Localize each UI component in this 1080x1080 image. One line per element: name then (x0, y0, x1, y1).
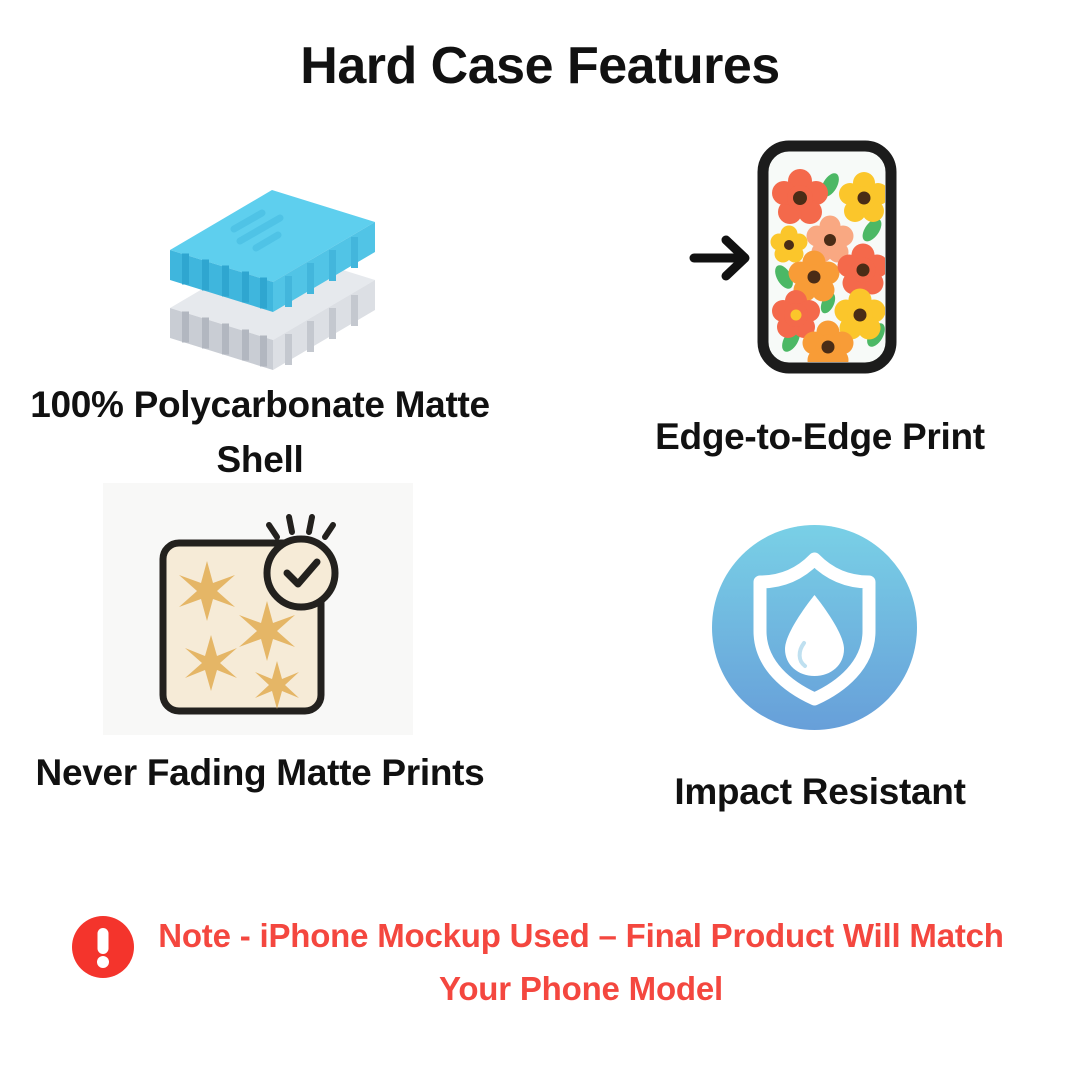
badge-rays (269, 517, 333, 537)
shield-droplet-icon (712, 525, 917, 730)
feature-label-edge-to-edge: Edge-to-Edge Print (570, 410, 1070, 465)
layered-slabs-icon (160, 172, 375, 347)
arrow-right-icon (694, 240, 745, 276)
feature-infographic: Hard Case Features (0, 0, 1080, 1080)
note-banner: Note - iPhone Mockup Used – Final Produc… (72, 910, 1012, 1016)
feature-label-impact-resistant: Impact Resistant (570, 765, 1070, 820)
page-title: Hard Case Features (0, 36, 1080, 96)
check-circle-badge (267, 517, 335, 607)
feature-label-polycarbonate: 100% Polycarbonate Matte Shell (10, 378, 510, 488)
feature-label-never-fading: Never Fading Matte Prints (10, 746, 510, 801)
note-text: Note - iPhone Mockup Used – Final Produc… (154, 910, 1012, 1016)
sparkle-card-check-icon (155, 515, 360, 720)
exclamation-circle-icon (72, 916, 134, 978)
floral-phone-case-icon (688, 140, 903, 375)
